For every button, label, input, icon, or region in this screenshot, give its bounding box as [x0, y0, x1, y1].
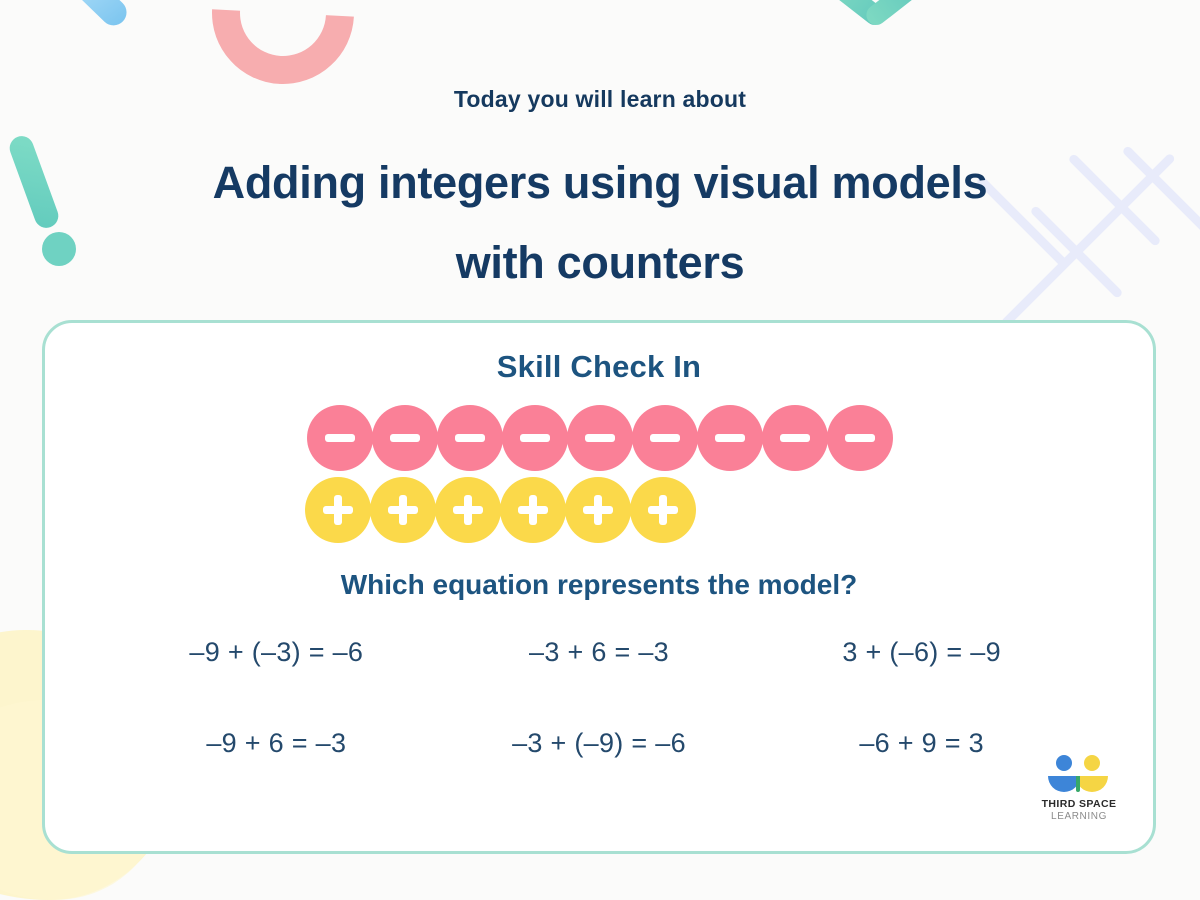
- positive-counter: [630, 477, 696, 543]
- negative-counter: [762, 405, 828, 471]
- positive-counter: [435, 477, 501, 543]
- skill-check-card: Skill Check In Which equation represents…: [42, 320, 1156, 854]
- slide-header: Today you will learn about Adding intege…: [0, 0, 1200, 303]
- negative-counter: [307, 405, 373, 471]
- logo-dot-yellow: [1084, 755, 1100, 771]
- answer-options: –9 + (–3) = –6–3 + 6 = –33 + (–6) = –9–9…: [45, 637, 1153, 759]
- minus-icon: [390, 434, 420, 442]
- plus-icon: [659, 495, 667, 525]
- minus-icon: [780, 434, 810, 442]
- positive-counter-row: [305, 477, 695, 543]
- logo-dot-blue: [1056, 755, 1072, 771]
- slide-root: Today you will learn about Adding intege…: [0, 0, 1200, 900]
- page-title-line-2: with counters: [0, 223, 1200, 303]
- page-title: Adding integers using visual models with…: [0, 143, 1200, 303]
- minus-icon: [845, 434, 875, 442]
- negative-counter: [437, 405, 503, 471]
- minus-icon: [715, 434, 745, 442]
- counter-model: [45, 405, 1153, 543]
- plus-icon: [464, 495, 472, 525]
- plus-icon: [399, 495, 407, 525]
- negative-counter: [697, 405, 763, 471]
- plus-icon: [529, 495, 537, 525]
- card-title: Skill Check In: [45, 349, 1153, 385]
- positive-counter: [500, 477, 566, 543]
- answer-option[interactable]: –3 + 6 = –3: [438, 637, 761, 668]
- negative-counter: [827, 405, 893, 471]
- minus-icon: [520, 434, 550, 442]
- positive-counter: [305, 477, 371, 543]
- answer-option[interactable]: –3 + (–9) = –6: [438, 728, 761, 759]
- answer-option[interactable]: –6 + 9 = 3: [760, 728, 1083, 759]
- minus-icon: [455, 434, 485, 442]
- logo-smile-overlap-green: [1076, 776, 1080, 792]
- logo-name: THIRD SPACE: [1027, 798, 1131, 811]
- negative-counter: [632, 405, 698, 471]
- logo-smile-yellow: [1076, 776, 1108, 792]
- positive-counter: [565, 477, 631, 543]
- plus-icon: [594, 495, 602, 525]
- minus-icon: [585, 434, 615, 442]
- answer-option[interactable]: –9 + 6 = –3: [115, 728, 438, 759]
- eyebrow-text: Today you will learn about: [0, 86, 1200, 113]
- third-space-learning-logo-icon: [1048, 755, 1110, 795]
- minus-icon: [650, 434, 680, 442]
- negative-counter: [372, 405, 438, 471]
- negative-counter: [502, 405, 568, 471]
- answer-option[interactable]: 3 + (–6) = –9: [760, 637, 1083, 668]
- negative-counter-row: [307, 405, 892, 471]
- brand-logo: THIRD SPACE LEARNING: [1027, 755, 1131, 823]
- minus-icon: [325, 434, 355, 442]
- logo-subtitle: LEARNING: [1027, 811, 1131, 823]
- plus-icon: [334, 495, 342, 525]
- negative-counter: [567, 405, 633, 471]
- positive-counter: [370, 477, 436, 543]
- page-title-line-1: Adding integers using visual models: [0, 143, 1200, 223]
- answer-option[interactable]: –9 + (–3) = –6: [115, 637, 438, 668]
- question-text: Which equation represents the model?: [45, 569, 1153, 601]
